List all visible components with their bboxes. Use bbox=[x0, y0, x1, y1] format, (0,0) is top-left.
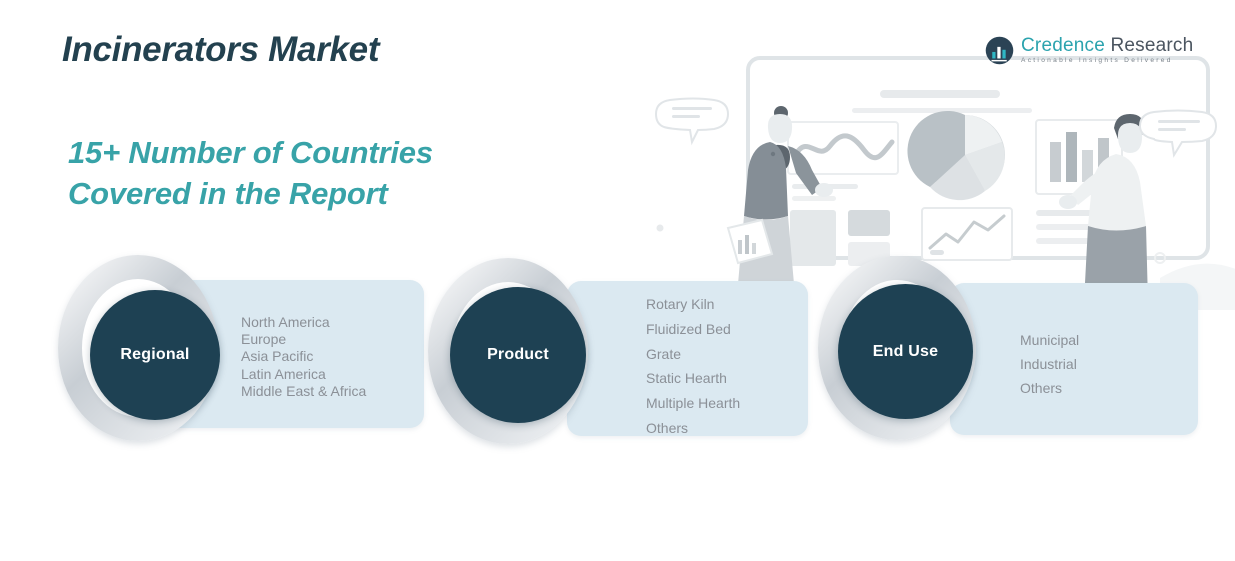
list-item: North America bbox=[241, 314, 366, 331]
list-item: Others bbox=[1020, 376, 1079, 400]
segment-items-product: Rotary Kiln Fluidized Bed Grate Static H… bbox=[646, 292, 740, 441]
speech-bubble-left bbox=[656, 99, 728, 143]
segment-items-end-use: Municipal Industrial Others bbox=[1020, 328, 1079, 401]
list-item: Static Hearth bbox=[646, 366, 740, 391]
page-title: Incinerators Market bbox=[62, 30, 379, 70]
list-item: Multiple Hearth bbox=[646, 391, 740, 416]
line-chart bbox=[796, 136, 892, 158]
segment-bubble-end-use[interactable]: End Use bbox=[838, 284, 973, 419]
list-item: Middle East & Africa bbox=[241, 383, 366, 400]
presentation-screen bbox=[748, 58, 1208, 258]
list-item: Latin America bbox=[241, 366, 366, 383]
report-paper bbox=[728, 220, 772, 263]
logo-name-primary: Credence bbox=[1021, 35, 1105, 56]
infographic-canvas: Incinerators Market 15+ Number of Countr… bbox=[0, 0, 1235, 561]
woman-presenter bbox=[728, 106, 833, 289]
list-item: Rotary Kiln bbox=[646, 292, 740, 317]
subtitle: 15+ Number of Countries Covered in the R… bbox=[68, 133, 433, 214]
segment-items-regional: North America Europe Asia Pacific Latin … bbox=[241, 314, 366, 400]
pie-chart bbox=[907, 111, 1005, 200]
man-presenter bbox=[1059, 114, 1148, 307]
list-item: Grate bbox=[646, 342, 740, 367]
list-item: Fluidized Bed bbox=[646, 317, 740, 342]
brand-logo[interactable]: Credence Research Actionable Insights De… bbox=[985, 36, 1193, 65]
segment-bubble-label: Regional bbox=[120, 346, 189, 364]
list-item: Europe bbox=[241, 331, 366, 348]
segment-bubble-label: Product bbox=[487, 346, 549, 364]
speech-bubble-right bbox=[1140, 111, 1216, 156]
segment-bubble-regional[interactable]: Regional bbox=[90, 290, 220, 420]
segment-bubble-product[interactable]: Product bbox=[450, 287, 586, 423]
segment-bubble-label: End Use bbox=[873, 343, 938, 361]
list-item: Others bbox=[646, 416, 740, 441]
subtitle-line-2: Covered in the Report bbox=[68, 174, 433, 215]
list-item: Asia Pacific bbox=[241, 348, 366, 365]
subtitle-line-1: 15+ Number of Countries bbox=[68, 133, 433, 174]
bar-chart bbox=[1036, 120, 1122, 194]
logo-name: Credence Research bbox=[1021, 36, 1193, 55]
bar-chart-circle-icon bbox=[985, 36, 1014, 65]
logo-tagline: Actionable Insights Delivered bbox=[1021, 58, 1193, 65]
logo-text: Credence Research Actionable Insights De… bbox=[1021, 36, 1193, 65]
logo-name-secondary: Research bbox=[1110, 35, 1193, 56]
list-item: Industrial bbox=[1020, 352, 1079, 376]
list-item: Municipal bbox=[1020, 328, 1079, 352]
